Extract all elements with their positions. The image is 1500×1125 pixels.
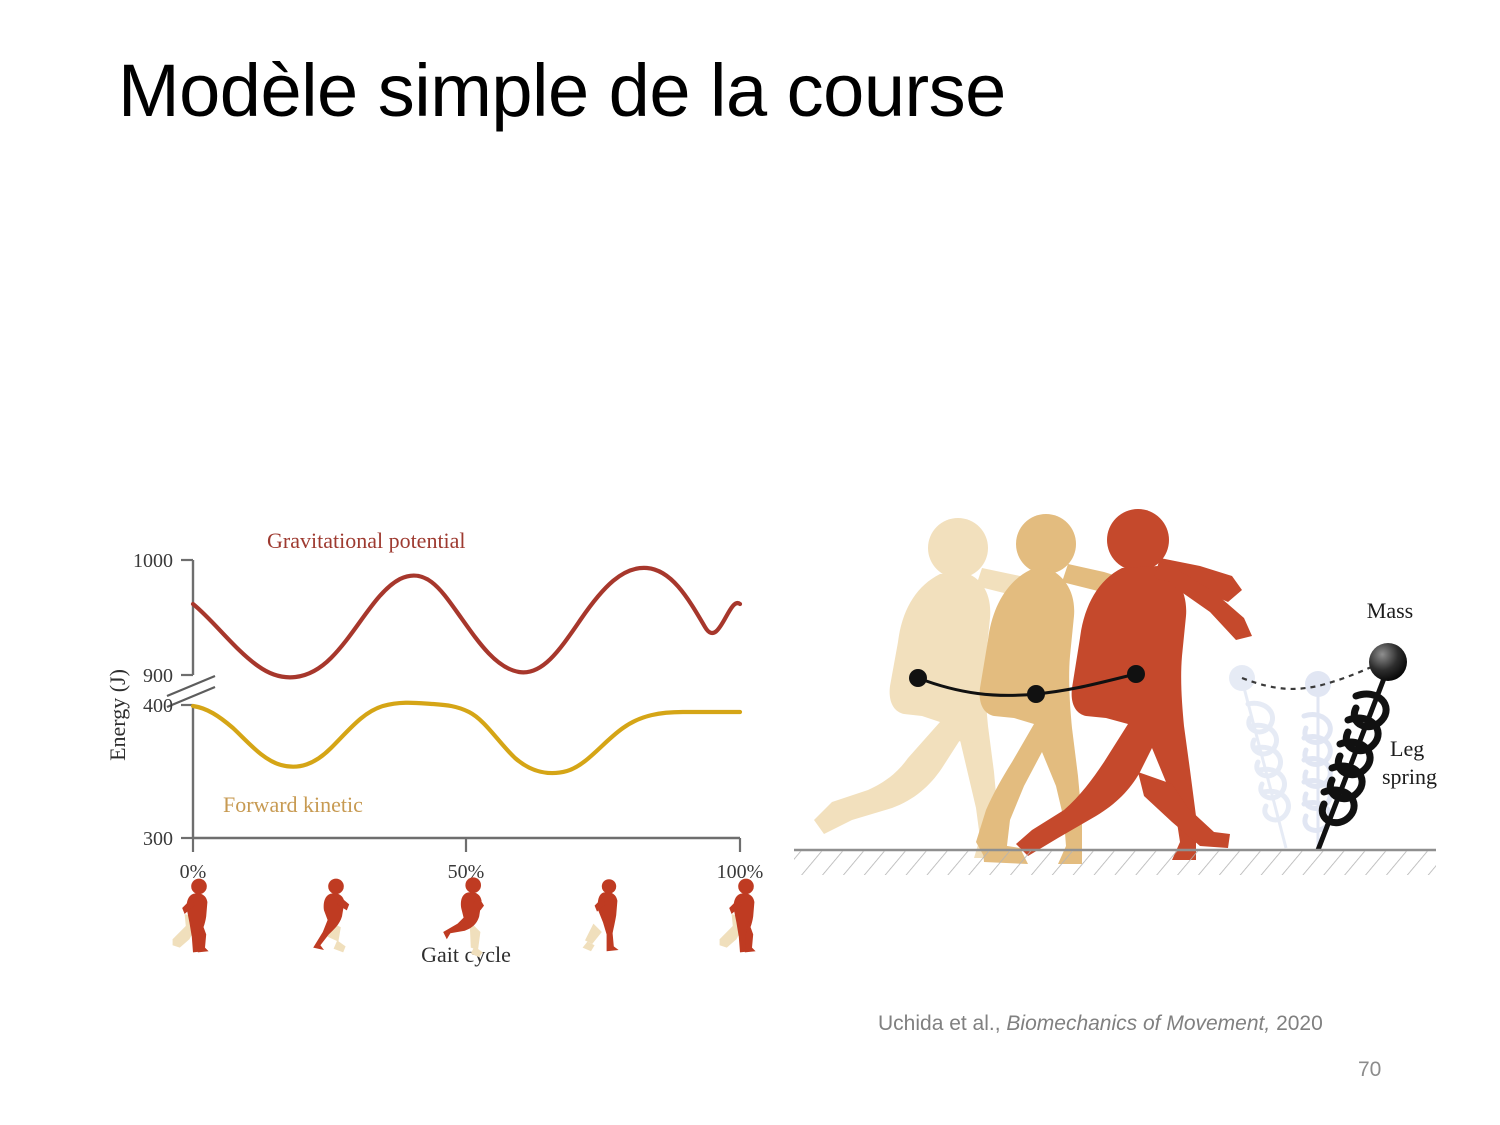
caption-source-title: Biomechanics of Movement, [1006,1012,1270,1035]
energy-chart: 1000 900 400 300 0% 50% 100% Energy (J) … [95,500,795,970]
figure-area: 1000 900 400 300 0% 50% 100% Energy (J) … [0,470,1500,970]
y-tick-label-400: 400 [143,695,173,717]
y-tick-label-900: 900 [143,665,173,687]
gait-figure-4 [720,879,756,953]
runner-illustration: Mass Leg spring [790,490,1440,910]
slide-number: 70 [1358,1058,1381,1082]
com-marker-2 [1027,685,1045,703]
series-gravitational-potential [193,568,740,677]
y-tick-label-300: 300 [143,828,173,850]
x-axis-title: Gait cycle [421,942,511,967]
gait-figure-1 [313,879,349,953]
ground-hatching [794,851,1436,875]
page-title: Modèle simple de la course [118,52,1388,130]
x-tick-label-50: 50% [448,861,485,883]
axis-break-mark [167,676,215,707]
caption-year: 2020 [1276,1012,1323,1035]
spring-mass-ghost-1 [1229,665,1289,848]
caption-authors: Uchida et al., [878,1012,1001,1035]
com-marker-1 [909,669,927,687]
mass-label: Mass [1367,598,1413,623]
leg-spring-label-line1: Leg [1390,736,1424,761]
gait-figure-3 [583,879,619,951]
series-label-forward-kinetic: Forward kinetic [223,792,363,817]
y-tick-label-1000: 1000 [133,550,173,572]
x-tick-label-100: 100% [717,861,764,883]
gait-figure-0 [173,879,209,953]
slide-canvas: Modèle simple de la course [0,0,1500,1125]
mass-sphere [1369,643,1407,681]
source-caption: Uchida et al., Biomechanics of Movement,… [878,1012,1323,1036]
series-label-gravitational-potential: Gravitational potential [267,528,466,553]
leg-spring-label-line2: spring [1382,764,1437,789]
series-forward-kinetic [193,703,740,773]
com-marker-3 [1127,665,1145,683]
y-axis-title: Energy (J) [105,669,130,761]
